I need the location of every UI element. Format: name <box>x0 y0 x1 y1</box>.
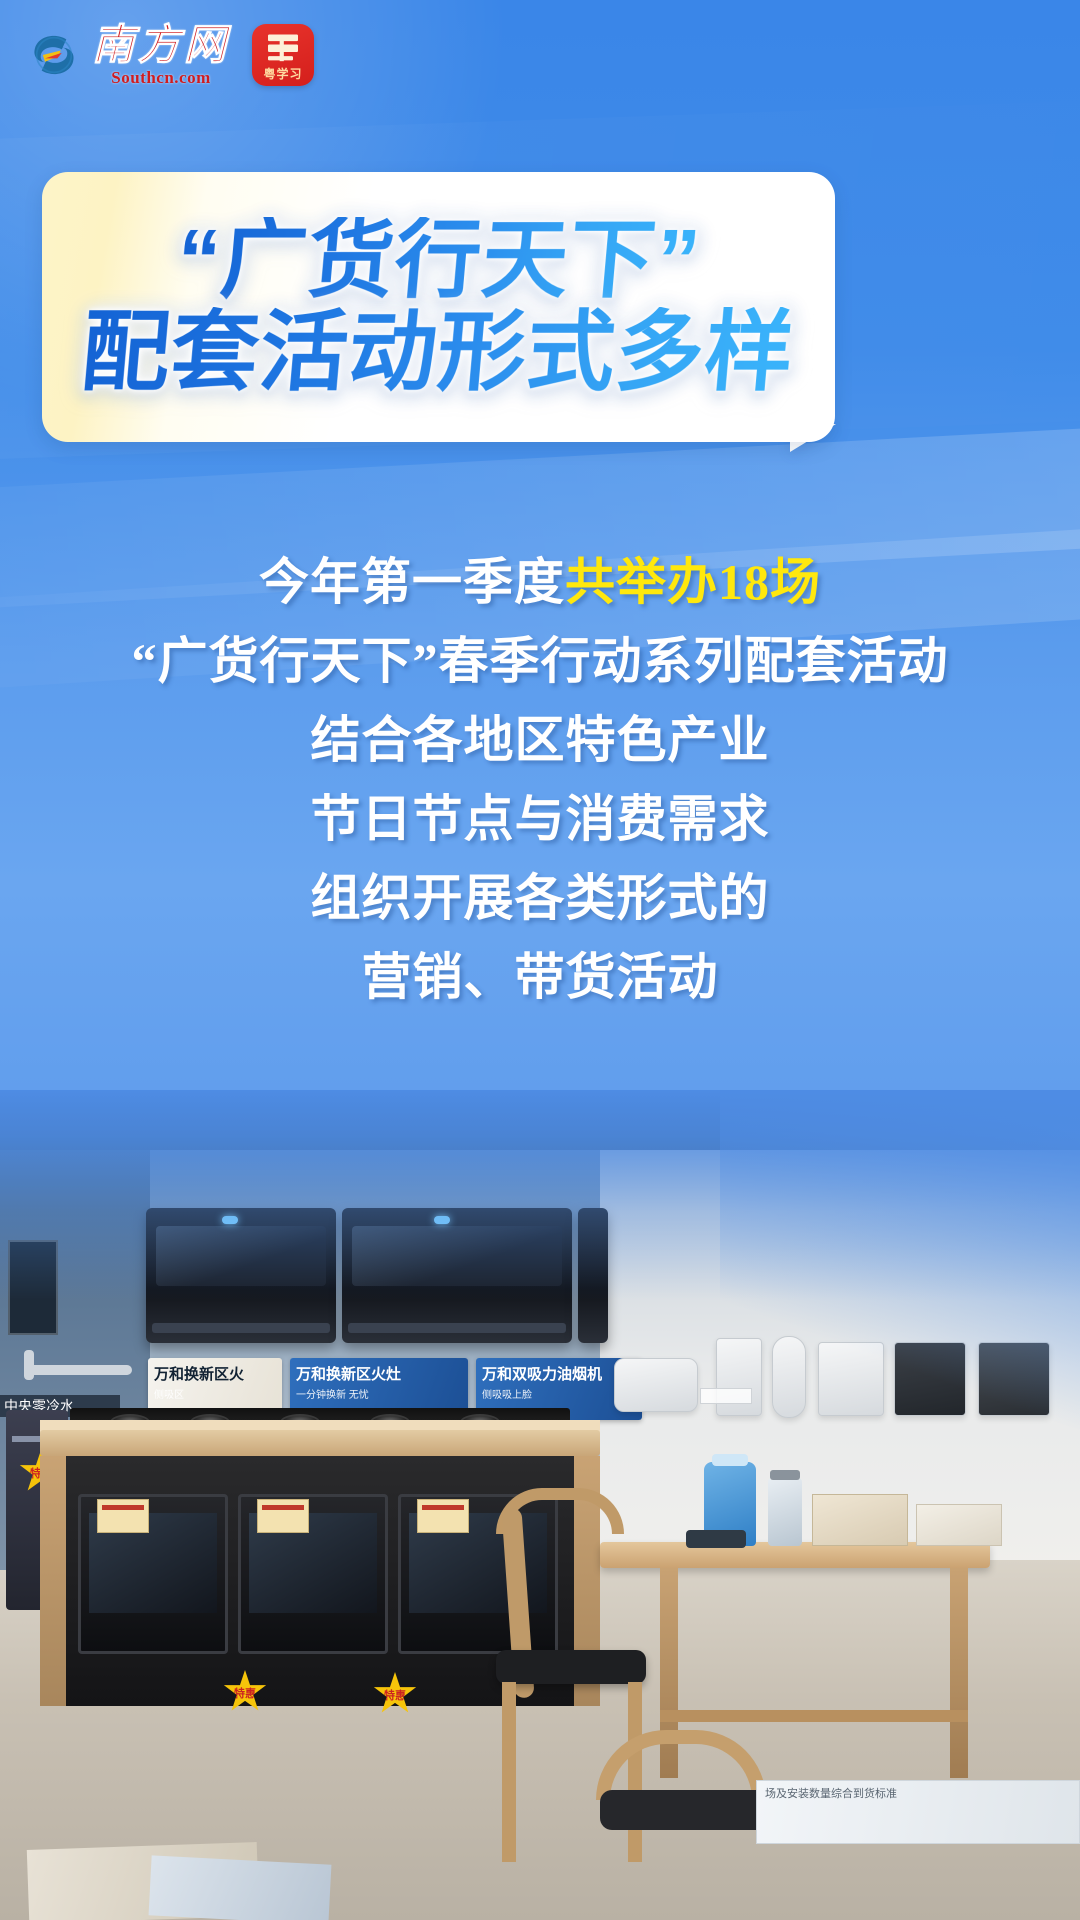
photo-oven-2 <box>238 1494 388 1654</box>
photo-box-2 <box>916 1504 1002 1546</box>
photo-floor-brochure-2 <box>149 1855 332 1920</box>
body-line-3: 结合各地区特色产业 <box>311 714 770 767</box>
photo-display-product-5 <box>894 1342 966 1416</box>
body-line-2: “广货行天下”春季行动系列配套活动 <box>132 635 949 688</box>
body-line-4: 节日节点与消费需求 <box>311 793 770 846</box>
photo-display-product-3 <box>772 1336 806 1418</box>
showroom-photo: 中央零冷水 特惠 特惠 万和换新区火 侧吸区 万和换新区火灶 一分钟换新 无忧 <box>0 1090 1080 1920</box>
photo-display-screen <box>8 1240 58 1335</box>
photo-oven-tag-1 <box>97 1499 149 1533</box>
photo-chair-1-leg-1 <box>502 1682 516 1862</box>
photo-floor-sign: 场及安装数量综合到货标准 <box>756 1780 1080 1844</box>
title-line-2: 配套活动形式多样 <box>79 307 799 397</box>
body-line-6: 营销、带货活动 <box>362 951 719 1004</box>
photo-counter-edge <box>40 1430 600 1456</box>
body-line-3-segment-1: 结合各地区特色产业 <box>311 712 770 768</box>
photo-oven-tag-3 <box>417 1499 469 1533</box>
body-line-1-segment-1: 今年第一季度 <box>259 554 565 610</box>
southcn-logo[interactable]: 南方网 Southcn.com <box>26 25 230 86</box>
photo-cabinet-side-left <box>40 1456 66 1706</box>
southcn-swirl-icon <box>26 27 82 83</box>
body-line-5-segment-1: 组织开展各类形式的 <box>311 870 770 926</box>
photo-table-leg-2 <box>950 1568 968 1778</box>
photo-poster-title-2: 万和换新区火灶 <box>290 1358 468 1384</box>
body-line-4-segment-1: 节日节点与消费需求 <box>311 791 770 847</box>
photo-poster-sub-2: 一分钟换新 无忧 <box>290 1384 468 1403</box>
photo-range-hood-2 <box>342 1208 572 1343</box>
photo-tray <box>686 1530 746 1548</box>
poster-root: 南方网 Southcn.com 粤学习 “广货行天下” 配套活动形式多样 今年第… <box>0 0 1080 1920</box>
body-line-6-segment-1: 营销、带货活动 <box>362 949 719 1005</box>
photo-range-hood-1 <box>146 1208 336 1343</box>
photo-ceiling <box>0 1090 1080 1150</box>
body-line-5: 组织开展各类形式的 <box>311 872 770 925</box>
title-text-group: “广货行天下” 配套活动形式多样 <box>42 172 835 442</box>
southcn-name-cn: 南方网 <box>92 25 230 67</box>
yuexuexi-label: 粤学习 <box>264 65 303 82</box>
header-logo-bar: 南方网 Southcn.com 粤学习 <box>26 24 314 86</box>
photo-display-product-1 <box>614 1358 698 1412</box>
photo-jar <box>768 1478 802 1546</box>
photo-poster-title-1: 万和换新区火 <box>148 1358 282 1384</box>
photo-poster-sub-1: 侧吸区 <box>148 1384 282 1403</box>
photo-display-product-2 <box>716 1338 762 1416</box>
yuexuexi-logo[interactable]: 粤学习 <box>252 24 314 86</box>
body-copy-block: 今年第一季度共举办18场“广货行天下”春季行动系列配套活动结合各地区特色产业节日… <box>0 556 1080 1004</box>
yuexuexi-book-icon <box>263 31 303 63</box>
body-line-1-segment-2: 共举办18场 <box>565 554 821 610</box>
photo-display-product-label <box>700 1388 752 1404</box>
photo-table-rail <box>660 1710 968 1722</box>
photo-chair-1-seat <box>496 1650 646 1684</box>
photo-box-1 <box>812 1494 908 1546</box>
southcn-wordmark: 南方网 Southcn.com <box>92 25 230 86</box>
title-line-1: “广货行天下” <box>173 217 704 305</box>
southcn-name-en: Southcn.com <box>111 69 210 86</box>
photo-display-product-6 <box>978 1342 1050 1416</box>
photo-oven-tag-2 <box>257 1499 309 1533</box>
photo-faucet-arm <box>24 1365 132 1375</box>
body-line-2-segment-1: “广货行天下”春季行动系列配套活动 <box>132 633 949 689</box>
photo-display-product-4 <box>818 1342 884 1416</box>
body-line-1: 今年第一季度共举办18场 <box>259 556 821 609</box>
photo-oven-1 <box>78 1494 228 1654</box>
photo-range-hood-3 <box>578 1208 608 1343</box>
